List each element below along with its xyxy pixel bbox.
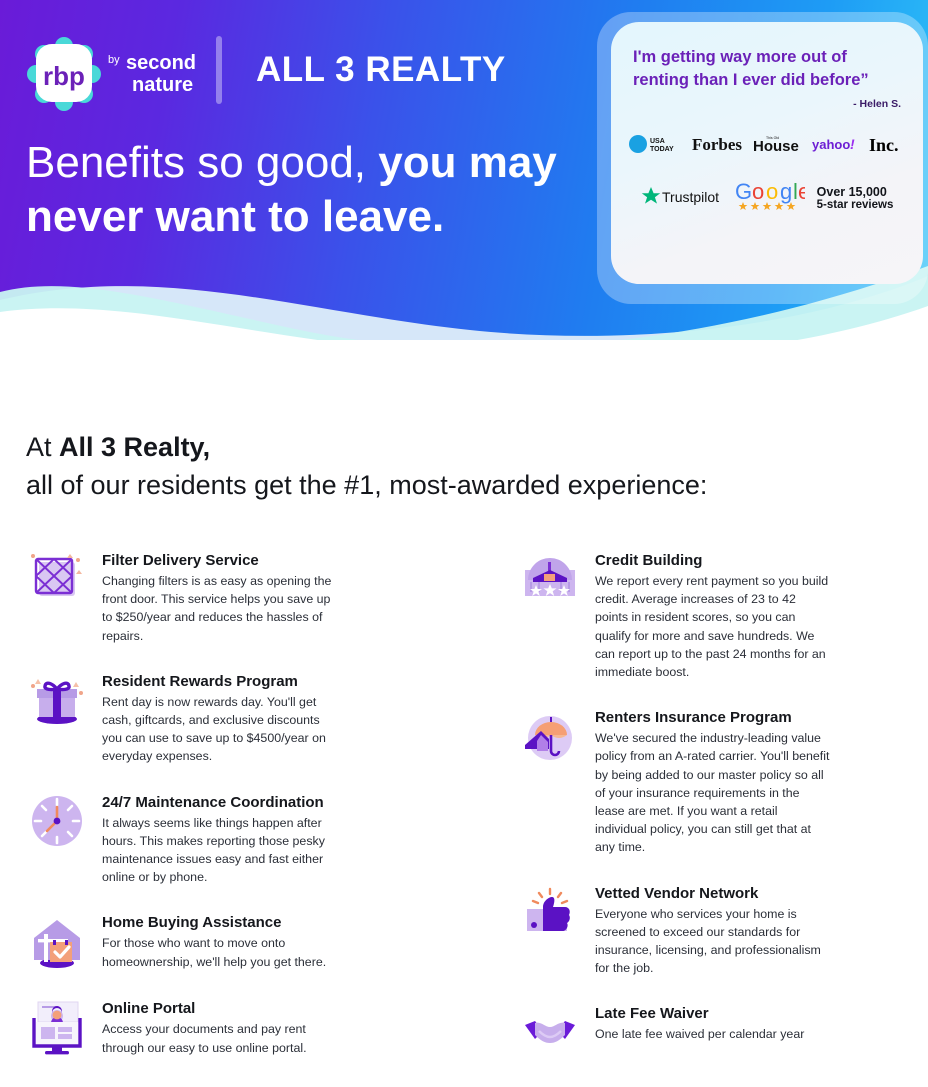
benefit-title: Vetted Vendor Network [595, 885, 831, 902]
benefit-title: Late Fee Waiver [595, 1005, 804, 1022]
quote-line-1: I'm getting way more out of [633, 48, 847, 66]
benefit-description: Access your documents and pay rent throu… [102, 1020, 338, 1056]
benefit-text: Resident Rewards Program Rent day is now… [102, 669, 338, 766]
quote-line-2: renting than I ever did before” [633, 71, 869, 89]
press-logo-row: USA TODAY Forbes This Old House yahoo ! [633, 134, 901, 154]
benefit-text: 24/7 Maintenance Coordination It always … [102, 790, 338, 887]
main-content: At All 3 Realty, all of our residents ge… [0, 428, 928, 1087]
heading-prefix: At [26, 432, 59, 462]
benefit-text: Filter Delivery Service Changing filters… [102, 548, 338, 645]
header-divider [216, 36, 222, 104]
svg-text:G: G [735, 180, 752, 204]
benefit-text: Home Buying Assistance For those who wan… [102, 910, 338, 972]
svg-text:TODAY: TODAY [650, 146, 674, 153]
benefit-item: Renters Insurance Program We've secured … [519, 705, 902, 856]
benefit-item: Resident Rewards Program Rent day is now… [26, 669, 449, 766]
ratings-row: Trustpilot G o o g l e [633, 180, 901, 217]
benefit-item: Online Portal Access your documents and … [26, 996, 449, 1058]
benefit-item: 24/7 Maintenance Coordination It always … [26, 790, 449, 887]
benefit-description: For those who want to move onto homeowne… [102, 934, 338, 970]
benefit-description: We've secured the industry-leading value… [595, 729, 831, 856]
testimonial-quote: I'm getting way more out of renting than… [633, 46, 901, 92]
benefit-title: Resident Rewards Program [102, 673, 338, 690]
benefit-text: Credit Building We report every rent pay… [595, 548, 831, 681]
svg-text:USA: USA [650, 138, 665, 145]
benefit-title: Online Portal [102, 1000, 338, 1017]
reviews-count: Over 15,000 5-star reviews [817, 186, 894, 212]
inc-logo: Inc. [869, 134, 905, 154]
monitor-portal-icon [26, 996, 88, 1058]
handshake-icon [519, 1001, 581, 1063]
umbrella-icon [519, 705, 581, 767]
benefit-title: Filter Delivery Service [102, 552, 338, 569]
google-logo: G o o g l e [735, 180, 805, 217]
svg-text:Trustpilot: Trustpilot [662, 189, 719, 205]
benefit-description: Everyone who services your home is scree… [595, 905, 831, 978]
benefit-item: Late Fee Waiver One late fee waived per … [519, 1001, 902, 1063]
benefit-description: It always seems like things happen after… [102, 814, 338, 887]
heading-line-2: all of our residents get the #1, most-aw… [26, 470, 707, 500]
svg-text:Inc.: Inc. [869, 135, 899, 154]
rbp-logo-icon: rbp [26, 36, 102, 112]
svg-text:!: ! [850, 136, 855, 152]
section-heading: At All 3 Realty, all of our residents ge… [26, 428, 902, 504]
svg-text:o: o [766, 180, 778, 204]
headline-regular: Benefits so good, [26, 138, 378, 187]
benefit-item: Vetted Vendor Network Everyone who servi… [519, 881, 902, 978]
second-nature-wordmark: by second nature [106, 47, 218, 101]
svg-text:e: e [798, 180, 805, 204]
benefit-title: Renters Insurance Program [595, 709, 831, 726]
svg-text:o: o [752, 180, 764, 204]
house-sold-sign-icon [26, 910, 88, 972]
svg-text:Forbes: Forbes [692, 135, 742, 154]
heading-company: All 3 Realty, [59, 432, 210, 462]
svg-text:House: House [753, 138, 799, 154]
trustpilot-logo: Trustpilot [641, 186, 723, 211]
company-name: ALL 3 REALTY [256, 50, 506, 90]
benefit-item: Home Buying Assistance For those who wan… [26, 910, 449, 972]
benefit-text: Late Fee Waiver One late fee waived per … [595, 1001, 804, 1063]
testimonial-attribution: - Helen S. [633, 98, 901, 110]
benefit-text: Online Portal Access your documents and … [102, 996, 338, 1058]
svg-text:g: g [780, 180, 792, 204]
brand-lockup: rbp by second nature [26, 36, 218, 112]
gift-icon [26, 669, 88, 731]
benefit-title: Home Buying Assistance [102, 914, 338, 931]
benefits-column-right: Credit Building We report every rent pay… [479, 548, 902, 1087]
benefit-description: Changing filters is as easy as opening t… [102, 572, 338, 645]
benefit-text: Vetted Vendor Network Everyone who servi… [595, 881, 831, 978]
this-old-house-logo: This Old House [753, 134, 803, 154]
reviews-line-1: Over 15,000 [817, 186, 894, 199]
benefit-description: Rent day is now rewards day. You'll get … [102, 693, 338, 766]
reviews-line-2: 5-star reviews [817, 199, 894, 212]
benefit-title: Credit Building [595, 552, 831, 569]
svg-text:nature: nature [132, 74, 193, 96]
hero-banner: rbp by second nature ALL 3 REALTY Benefi… [0, 0, 928, 340]
benefit-item: Credit Building We report every rent pay… [519, 548, 902, 681]
headline-bold-2: never want to leave. [26, 192, 444, 241]
forbes-logo: Forbes [692, 134, 744, 154]
svg-text:yahoo: yahoo [812, 137, 850, 152]
headline-bold-1: you may [378, 138, 557, 187]
benefit-description: One late fee waived per calendar year [595, 1025, 804, 1043]
credit-badge-icon [519, 548, 581, 610]
yahoo-logo: yahoo ! [812, 134, 860, 154]
benefit-title: 24/7 Maintenance Coordination [102, 794, 338, 811]
clock-icon [26, 790, 88, 852]
thumbs-up-icon [519, 881, 581, 943]
svg-text:by: by [108, 54, 120, 66]
testimonial-card: I'm getting way more out of renting than… [611, 22, 923, 284]
benefit-text: Renters Insurance Program We've secured … [595, 705, 831, 856]
svg-text:rbp: rbp [43, 61, 85, 91]
usa-today-logo: USA TODAY [629, 134, 683, 154]
benefit-description: We report every rent payment so you buil… [595, 572, 831, 681]
benefits-columns: Filter Delivery Service Changing filters… [26, 548, 902, 1087]
air-filter-icon [26, 548, 88, 610]
benefit-item: Filter Delivery Service Changing filters… [26, 548, 449, 645]
hero-headline: Benefits so good, you may never want to … [26, 136, 557, 244]
svg-text:second: second [126, 52, 196, 74]
benefits-column-left: Filter Delivery Service Changing filters… [26, 548, 449, 1087]
